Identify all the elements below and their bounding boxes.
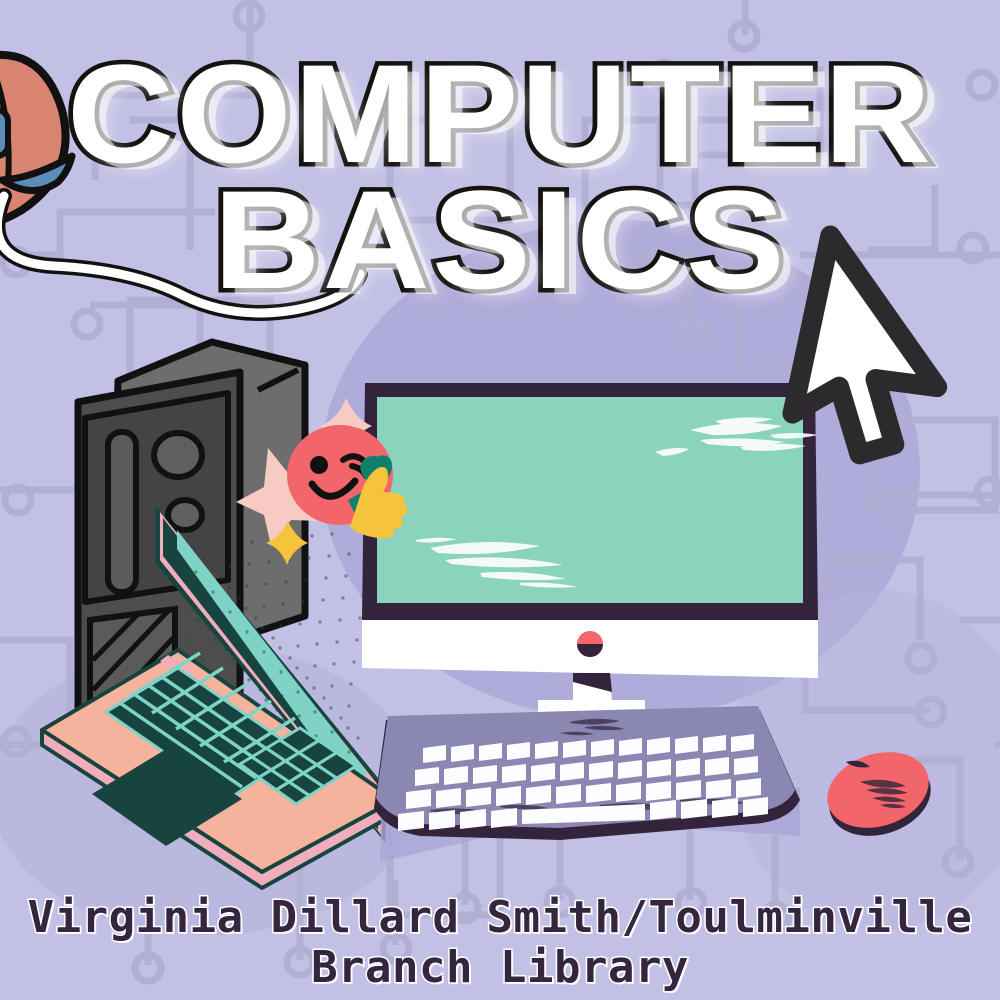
mouse-cursor-arrow xyxy=(0,0,1000,1000)
poster-canvas: COMPUTER BASICS Virginia Dillard Smith/T… xyxy=(0,0,1000,1000)
